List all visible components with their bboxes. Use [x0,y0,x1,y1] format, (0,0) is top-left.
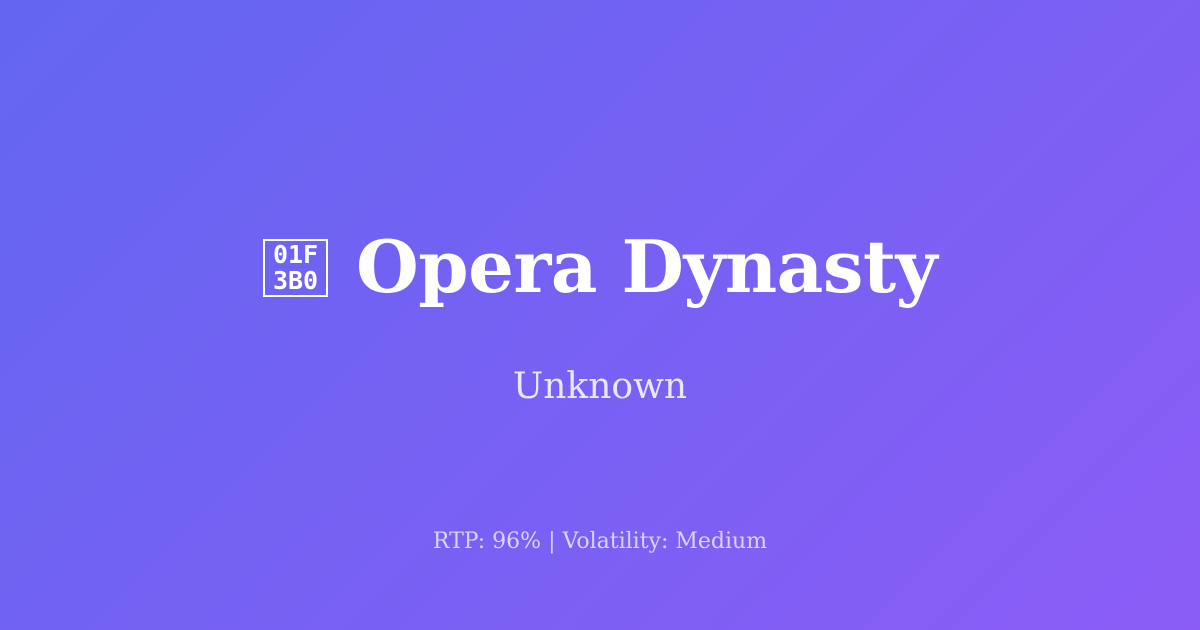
slot-machine-icon-codepoint-upper: 01F [273,242,318,268]
game-stats: RTP: 96% | Volatility: Medium [0,529,1200,555]
provider-label: Unknown [0,365,1200,408]
slot-machine-icon: 01F 3B0 [263,239,328,297]
title-row: 01F 3B0 Opera Dynasty [0,231,1200,303]
game-preview-card: 01F 3B0 Opera Dynasty Unknown RTP: 96% |… [0,0,1200,630]
page-title: Opera Dynasty [356,231,937,303]
slot-machine-icon-codepoint-lower: 3B0 [273,268,318,294]
